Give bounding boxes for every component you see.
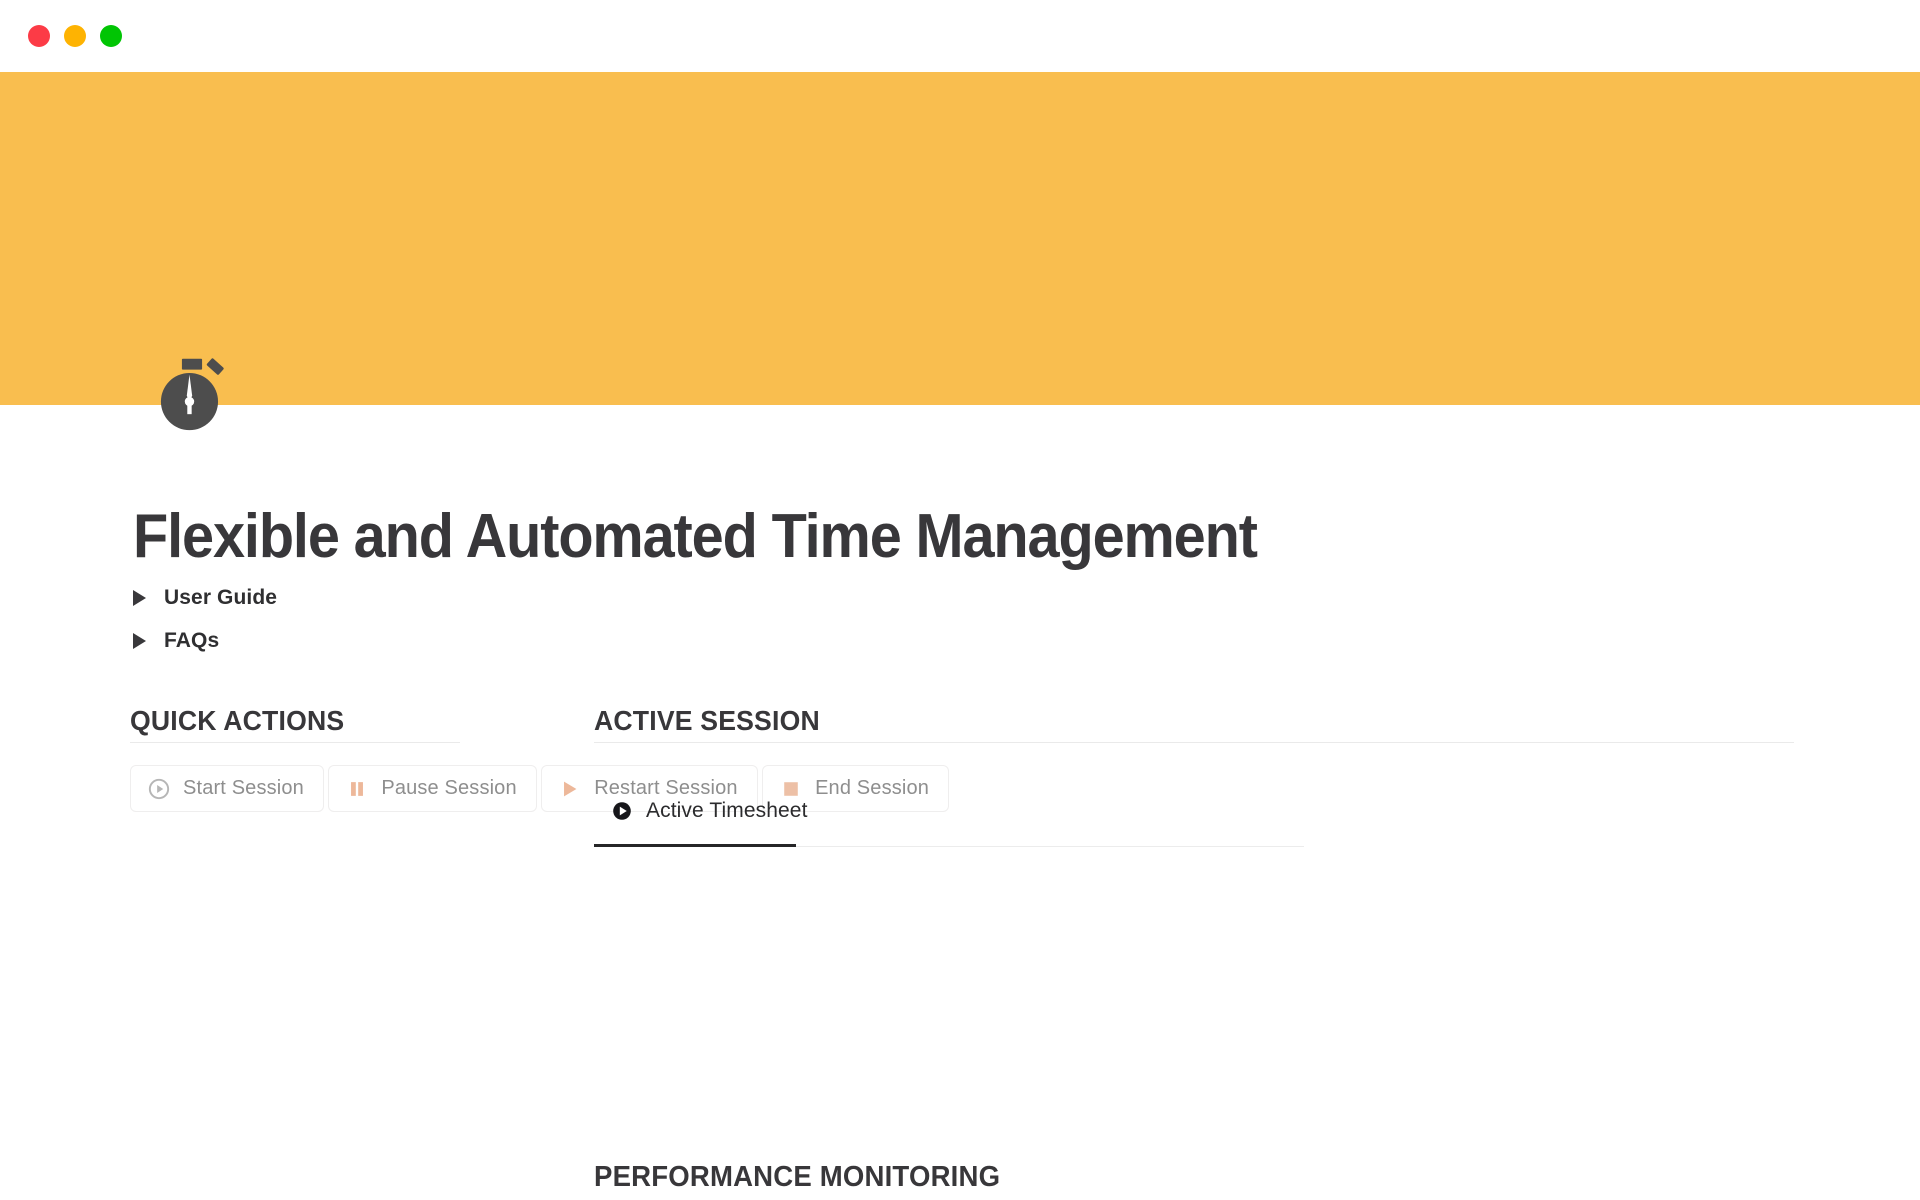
stopwatch-icon[interactable] [150,352,234,436]
play-circle-filled-icon [611,800,633,822]
maximize-window-button[interactable] [100,25,122,47]
play-triangle-icon [559,778,581,800]
quick-actions-divider [130,742,460,743]
active-session-tabs: Active Timesheet [594,793,1304,837]
toggle-user-guide[interactable]: User Guide [133,586,277,610]
minimize-window-button[interactable] [64,25,86,47]
tab-active-timesheet-label: Active Timesheet [646,799,808,823]
pause-session-label: Pause Session [381,777,516,800]
toggle-user-guide-label: User Guide [164,586,277,610]
page-cover-banner[interactable] [0,72,1920,405]
start-session-label: Start Session [183,777,304,800]
play-circle-icon [148,778,170,800]
page-title: Flexible and Automated Time Management [133,501,1257,572]
window-titlebar [0,0,1920,72]
tab-active-timesheet[interactable]: Active Timesheet [594,793,825,837]
triangle-right-icon[interactable] [133,633,146,649]
pause-icon [346,778,368,800]
close-window-button[interactable] [28,25,50,47]
performance-monitoring-heading: PERFORMANCE MONITORING [594,1161,1000,1194]
active-session-heading: ACTIVE SESSION [594,705,820,737]
triangle-right-icon[interactable] [133,590,146,606]
start-session-button[interactable]: Start Session [130,765,324,812]
app-window: Flexible and Automated Time Management U… [0,0,1920,1200]
quick-actions-heading: QUICK ACTIONS [130,705,344,737]
pause-session-button[interactable]: Pause Session [328,765,536,812]
toggle-faqs[interactable]: FAQs [133,629,219,653]
tab-active-indicator [594,844,796,847]
toggle-faqs-label: FAQs [164,629,219,653]
active-session-divider [594,742,1794,743]
